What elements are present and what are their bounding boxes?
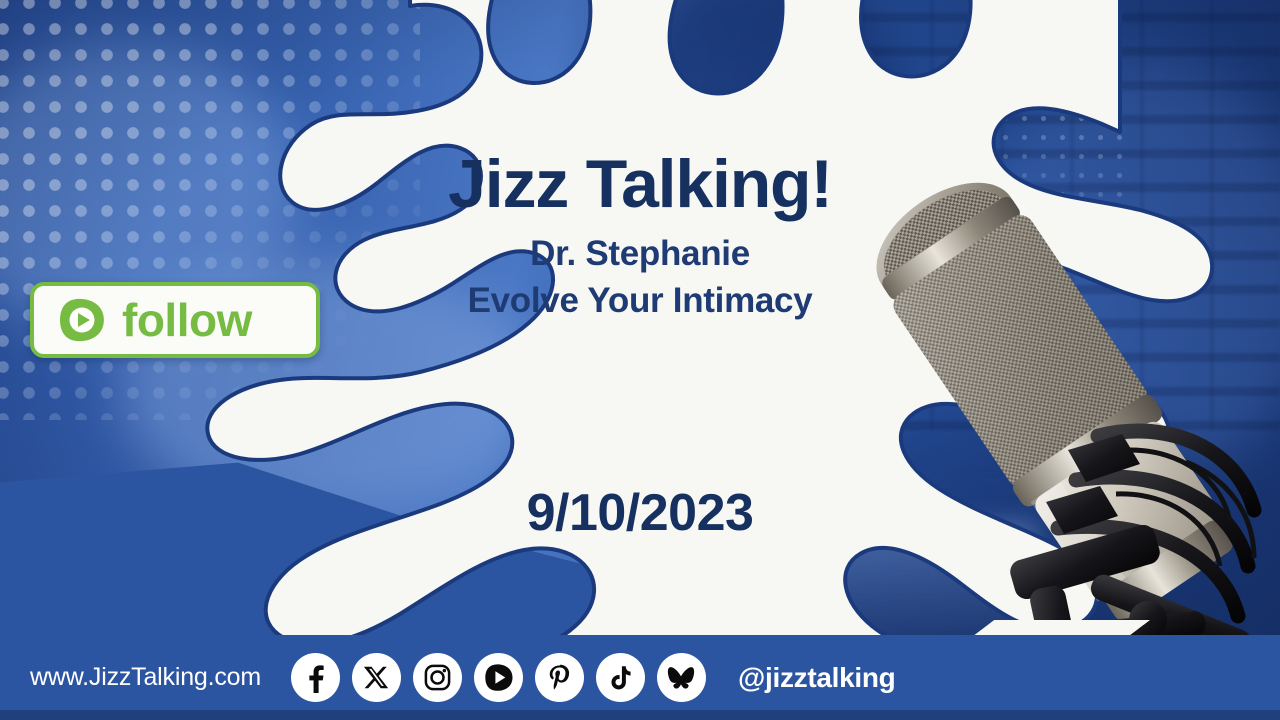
social-handle: @jizztalking xyxy=(738,662,896,694)
follow-button[interactable]: follow xyxy=(30,282,320,358)
footer-bar: www.JizzTalking.com xyxy=(0,635,1280,720)
podcast-cover-art: Jizz Talking! Dr. Stephanie Evolve Your … xyxy=(0,0,1280,720)
title-block: Jizz Talking! Dr. Stephanie Evolve Your … xyxy=(350,150,930,321)
facebook-icon[interactable] xyxy=(291,653,340,702)
social-links xyxy=(291,653,706,702)
tagline: Evolve Your Intimacy xyxy=(350,281,930,321)
follow-button-label: follow xyxy=(122,297,252,343)
x-twitter-icon[interactable] xyxy=(352,653,401,702)
instagram-icon[interactable] xyxy=(413,653,462,702)
rumble-icon[interactable] xyxy=(474,653,523,702)
episode-date: 9/10/2023 xyxy=(350,483,930,543)
tiktok-icon[interactable] xyxy=(596,653,645,702)
host-name: Dr. Stephanie xyxy=(350,234,930,274)
bluesky-icon[interactable] xyxy=(657,653,706,702)
page-title: Jizz Talking! xyxy=(350,150,930,218)
website-url[interactable]: www.JizzTalking.com xyxy=(30,663,261,692)
footer-bottom-accent xyxy=(0,710,1280,720)
rumble-play-icon xyxy=(56,294,108,346)
pinterest-icon[interactable] xyxy=(535,653,584,702)
